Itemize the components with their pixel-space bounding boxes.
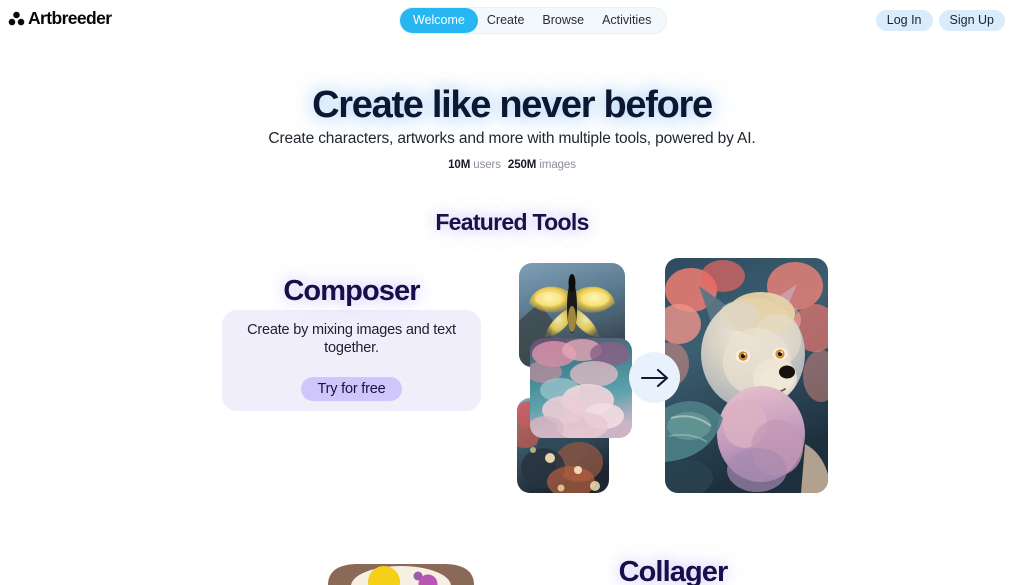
result-image-fluffy-dog[interactable] <box>665 258 828 493</box>
featured-tools-title: Featured Tools <box>0 209 1024 236</box>
hero-stats: 10M users250M images <box>0 159 1024 171</box>
composer-try-for-free-button[interactable]: Try for free <box>301 377 403 401</box>
nav-item-browse[interactable]: Browse <box>533 8 593 33</box>
collager-artwork[interactable] <box>322 560 480 585</box>
abstract-collage-artwork <box>322 560 480 585</box>
login-button[interactable]: Log In <box>876 10 933 31</box>
nav-item-create[interactable]: Create <box>478 8 534 33</box>
arrow-right-icon <box>640 367 670 389</box>
fluffy-dog-portrait-artwork <box>665 258 828 493</box>
stat-images-value: 250M <box>508 159 536 171</box>
collager-title: Collager <box>573 556 773 585</box>
signup-button[interactable]: Sign Up <box>939 10 1005 31</box>
hero-title: Create like never before <box>0 84 1024 127</box>
composer-description: Create by mixing images and text togethe… <box>236 321 467 357</box>
stat-users-label: users <box>473 159 501 171</box>
main-navigation: Welcome Create Browse Activities <box>400 8 666 33</box>
source-image-pastel-clouds[interactable] <box>530 338 632 438</box>
brand-name: Artbreeder <box>28 8 111 29</box>
three-circles-icon <box>8 10 25 27</box>
site-header: Artbreeder Welcome Create Browse Activit… <box>0 0 1024 42</box>
stat-images-label: images <box>539 159 575 171</box>
pastel-clouds-artwork <box>530 338 632 438</box>
nav-item-activities[interactable]: Activities <box>593 8 660 33</box>
nav-item-welcome[interactable]: Welcome <box>400 8 478 33</box>
composer-card: Create by mixing images and text togethe… <box>222 310 481 411</box>
artbreeder-landing-page: Artbreeder Welcome Create Browse Activit… <box>0 0 1024 585</box>
stat-users-value: 10M <box>448 159 470 171</box>
composer-title: Composer <box>222 275 481 308</box>
brand-logo[interactable]: Artbreeder <box>8 8 111 29</box>
transform-arrow-badge <box>629 352 680 403</box>
hero-subtitle: Create characters, artworks and more wit… <box>0 130 1024 148</box>
auth-buttons: Log In Sign Up <box>876 10 1005 31</box>
